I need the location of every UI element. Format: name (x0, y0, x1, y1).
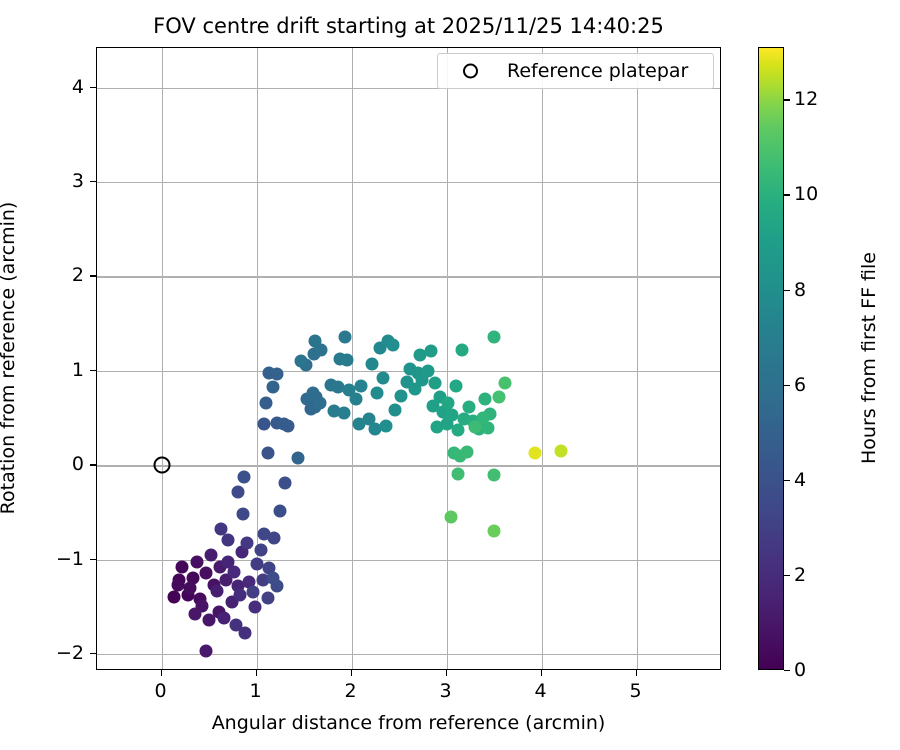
scatter-point (229, 618, 242, 631)
y-tick-label: 2 (50, 264, 84, 286)
y-tick-label: 4 (50, 76, 84, 98)
scatter-point (227, 565, 240, 578)
scatter-point (355, 379, 368, 392)
scatter-point (215, 523, 228, 536)
scatter-point (455, 344, 468, 357)
x-tick-mark (636, 670, 637, 676)
scatter-point (379, 419, 392, 432)
scatter-point (554, 445, 567, 458)
scatter-point (261, 446, 274, 459)
gridline-vertical (542, 48, 543, 669)
x-tick-mark (256, 670, 257, 676)
y-axis-label: Rotation from reference (arcmin) (0, 202, 19, 515)
scatter-point (266, 380, 279, 393)
colorbar-tick-label: 4 (794, 469, 806, 491)
x-axis-label: Angular distance from reference (arcmin) (96, 712, 721, 734)
scatter-point (450, 379, 463, 392)
scatter-point (340, 353, 353, 366)
scatter-point (463, 400, 476, 413)
figure-canvas: FOV centre drift starting at 2025/11/25 … (0, 0, 900, 750)
scatter-point (394, 390, 407, 403)
scatter-point (234, 588, 247, 601)
scatter-point (429, 377, 442, 390)
scatter-point (258, 528, 271, 541)
scatter-point (488, 468, 501, 481)
scatter-point (425, 345, 438, 358)
y-tick-label: −2 (50, 642, 84, 664)
scatter-point (203, 614, 216, 627)
scatter-point (366, 358, 379, 371)
open-circle-icon (463, 64, 478, 79)
scatter-point (260, 396, 273, 409)
colorbar-tick-label: 12 (794, 88, 818, 110)
scatter-point (274, 504, 287, 517)
scatter-point (371, 386, 384, 399)
scatter-point (176, 561, 189, 574)
scatter-point (248, 600, 261, 613)
colorbar-tick-mark (784, 99, 790, 100)
colorbar-tick-label: 0 (794, 659, 806, 681)
plot-area (96, 47, 721, 670)
scatter-point (528, 446, 541, 459)
scatter-point (376, 372, 389, 385)
y-tick-mark (90, 559, 96, 560)
scatter-point (389, 404, 402, 417)
scatter-point (279, 477, 292, 490)
colorbar-tick-mark (784, 194, 790, 195)
colorbar-tick-label: 8 (794, 279, 806, 301)
x-tick-mark (161, 670, 162, 676)
scatter-point (210, 584, 223, 597)
colorbar-tick-label: 2 (794, 564, 806, 586)
scatter-point (337, 407, 350, 420)
x-tick-label: 2 (345, 680, 357, 702)
colorbar-tick-mark (784, 480, 790, 481)
scatter-point (266, 572, 279, 585)
colorbar-tick-mark (784, 290, 790, 291)
scatter-point (492, 391, 505, 404)
y-tick-label: −1 (50, 548, 84, 570)
colorbar-tick-mark (784, 385, 790, 386)
y-tick-mark (90, 87, 96, 88)
scatter-point (200, 566, 213, 579)
colorbar-tick-label: 10 (794, 183, 818, 205)
x-tick-mark (541, 670, 542, 676)
scatter-point (488, 525, 501, 538)
x-tick-label: 4 (534, 680, 546, 702)
scatter-point (499, 377, 512, 390)
legend[interactable]: Reference platepar (437, 53, 714, 89)
gridline-vertical (162, 48, 163, 669)
scatter-point (442, 396, 455, 409)
colorbar-tick-mark (784, 670, 790, 671)
scatter-point (255, 544, 268, 557)
scatter-point (488, 330, 501, 343)
y-tick-mark (90, 464, 96, 465)
y-tick-mark (90, 181, 96, 182)
gridline-vertical (447, 48, 448, 669)
x-tick-mark (446, 670, 447, 676)
scatter-point (350, 393, 363, 406)
scatter-point (167, 591, 180, 604)
gridline-horizontal (97, 465, 720, 466)
gridline-horizontal (97, 654, 720, 655)
scatter-point (261, 592, 274, 605)
y-tick-label: 1 (50, 359, 84, 381)
scatter-point (271, 367, 284, 380)
x-tick-label: 1 (250, 680, 262, 702)
chart-title: FOV centre drift starting at 2025/11/25 … (96, 14, 721, 38)
scatter-point (184, 581, 197, 594)
scatter-point (250, 558, 263, 571)
scatter-point (469, 420, 482, 433)
scatter-point (338, 330, 351, 343)
reference-platepar-marker (153, 457, 170, 474)
scatter-point (421, 364, 434, 377)
x-tick-label: 3 (439, 680, 451, 702)
gridline-horizontal (97, 182, 720, 183)
legend-entry-label: Reference platepar (507, 60, 688, 82)
colorbar-gradient (758, 47, 784, 670)
y-tick-label: 3 (50, 170, 84, 192)
scatter-point (258, 417, 271, 430)
scatter-point (190, 556, 203, 569)
scatter-point (445, 511, 458, 524)
scatter-point (461, 446, 474, 459)
scatter-point (246, 585, 259, 598)
scatter-point (478, 393, 491, 406)
scatter-point (171, 579, 184, 592)
scatter-point (241, 536, 254, 549)
colorbar-tick-label: 6 (794, 374, 806, 396)
scatter-point (278, 417, 291, 430)
scatter-point (451, 467, 464, 480)
scatter-point (200, 645, 213, 658)
scatter-point (314, 396, 327, 409)
scatter-point (237, 508, 250, 521)
x-tick-mark (351, 670, 352, 676)
scatter-point (204, 548, 217, 561)
scatter-point (188, 608, 201, 621)
scatter-point (238, 470, 251, 483)
scatter-point (231, 485, 244, 498)
scatter-point (309, 334, 322, 347)
gridline-vertical (637, 48, 638, 669)
y-tick-label: 0 (50, 453, 84, 475)
scatter-point (387, 339, 400, 352)
colorbar-tick-mark (784, 575, 790, 576)
scatter-point (292, 451, 305, 464)
scatter-point (295, 355, 308, 368)
x-tick-label: 5 (629, 680, 641, 702)
x-tick-label: 0 (155, 680, 167, 702)
colorbar-label: Hours from first FF file (858, 252, 880, 464)
y-tick-mark (90, 275, 96, 276)
scatter-point (451, 424, 464, 437)
gridline-horizontal (97, 276, 720, 277)
y-tick-mark (90, 653, 96, 654)
y-tick-mark (90, 370, 96, 371)
